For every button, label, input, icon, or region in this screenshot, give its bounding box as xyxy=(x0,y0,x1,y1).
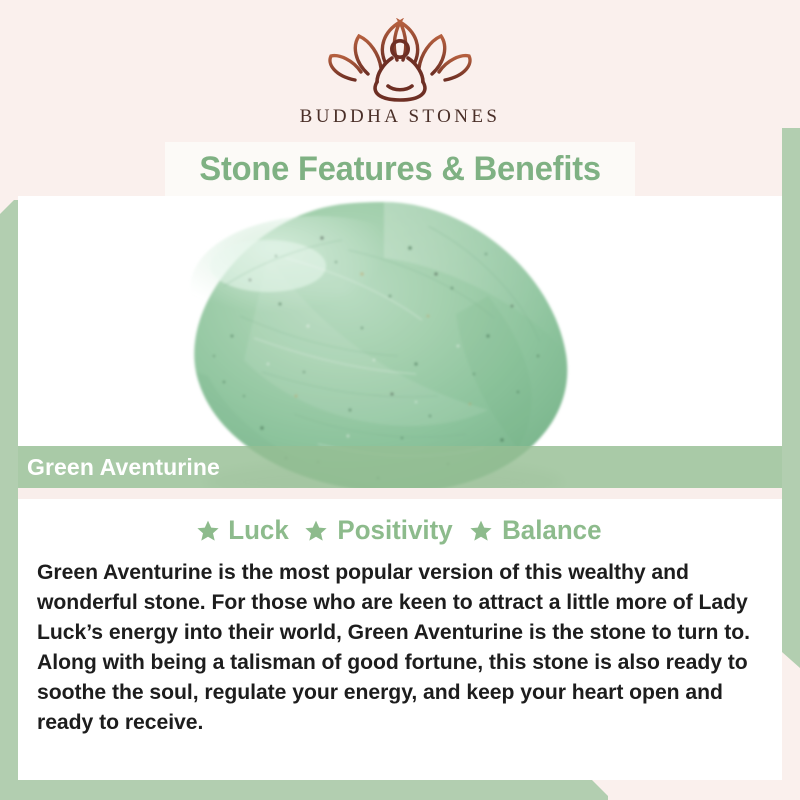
brand-logo: BUDDHA STONES xyxy=(0,18,800,128)
brand-name: BUDDHA STONES xyxy=(0,106,800,128)
keyword-label: Positivity xyxy=(338,515,453,546)
keyword-item-balance: Balance xyxy=(469,515,604,546)
star-icon xyxy=(469,519,493,543)
star-icon xyxy=(304,519,328,543)
keyword-item-positivity: Positivity xyxy=(304,515,455,546)
content-panel: Luck Positivity Balance Green Aventurine… xyxy=(18,499,782,780)
title-band: Stone Features & Benefits xyxy=(165,142,635,196)
page-title: Stone Features & Benefits xyxy=(199,150,600,189)
infographic-page: BUDDHA STONES Stone Features & Benefits xyxy=(0,0,800,800)
keyword-label: Luck xyxy=(228,515,289,546)
stone-name: Green Aventurine xyxy=(27,454,220,481)
star-icon xyxy=(196,519,220,543)
keyword-item-luck: Luck xyxy=(196,515,290,546)
stone-name-band: Green Aventurine xyxy=(18,446,782,488)
frame-accent-bottom xyxy=(0,780,608,800)
green-aventurine-stone-photo xyxy=(18,196,782,488)
hero-image: Green Aventurine xyxy=(18,196,782,488)
frame-accent-right xyxy=(782,128,800,668)
description-paragraph: Green Aventurine is the most popular ver… xyxy=(37,557,754,737)
keyword-list: Luck Positivity Balance xyxy=(18,515,782,546)
lotus-meditation-icon xyxy=(315,18,485,104)
divider-strip xyxy=(18,488,782,499)
frame-accent-left xyxy=(0,200,18,798)
header: BUDDHA STONES Stone Features & Benefits xyxy=(0,0,800,196)
keyword-label: Balance xyxy=(502,515,601,546)
